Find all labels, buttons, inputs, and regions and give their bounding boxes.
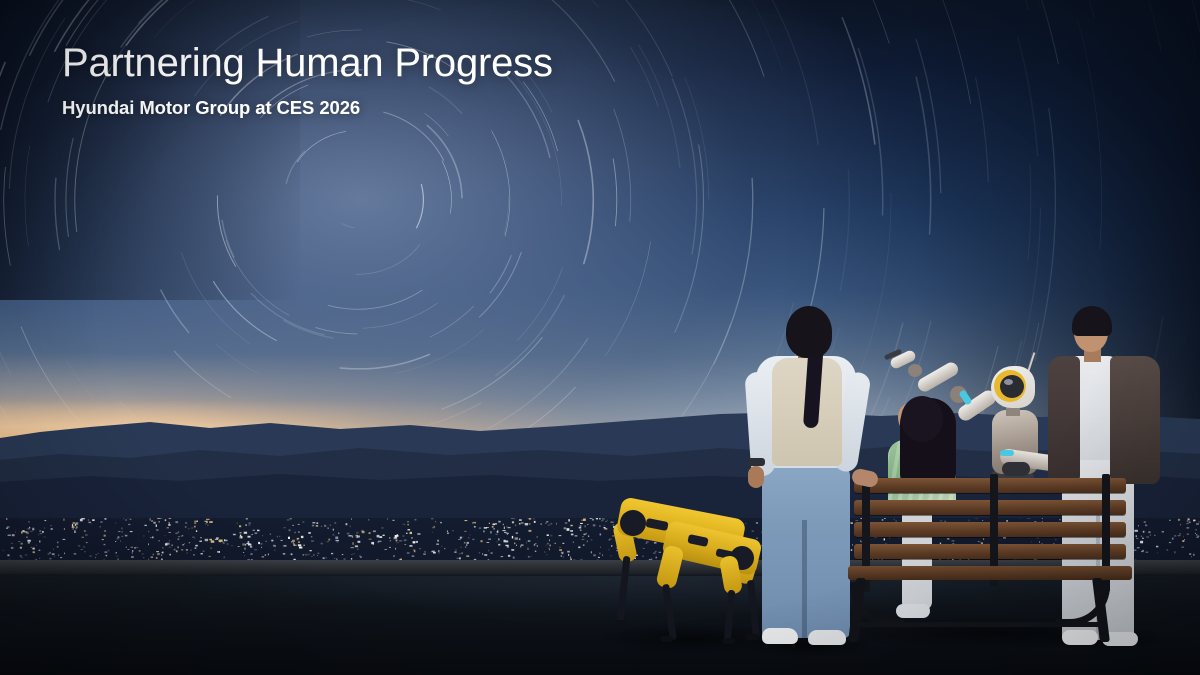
page-subtitle: Hyundai Motor Group at CES 2026 (62, 97, 553, 119)
robot-joint-accent (1000, 450, 1014, 456)
dog-foot (746, 634, 759, 640)
robot-face-glint (1004, 379, 1013, 385)
dog-shin (747, 580, 760, 638)
page-title: Partnering Human Progress (62, 42, 553, 85)
woman-jeans-seam (802, 520, 807, 638)
dog-shin (724, 590, 736, 642)
hero-banner: Partnering Human Progress Hyundai Motor … (0, 0, 1200, 675)
girl-head (901, 396, 943, 442)
robot-wrist (908, 364, 922, 377)
dog-shin (617, 556, 631, 622)
dog-foot (660, 636, 673, 642)
woman-hair (786, 306, 832, 358)
hero-text-block: Partnering Human Progress Hyundai Motor … (62, 42, 553, 119)
dog-foot (722, 638, 735, 644)
park-bench (840, 474, 1140, 644)
dog-hip-joint (620, 510, 646, 536)
robot-dog (604, 498, 774, 646)
woman-watch (748, 458, 765, 466)
robot-face-screen (1000, 375, 1024, 398)
dog-foot (616, 620, 629, 626)
bench-seat (848, 566, 1132, 580)
bench-rail (856, 622, 1106, 627)
man-cardigan-right (1110, 356, 1160, 484)
dog-shin (662, 584, 677, 640)
dog-thigh (655, 544, 685, 590)
woman-hand-left (748, 466, 764, 488)
man-cardigan-left (1048, 356, 1080, 482)
